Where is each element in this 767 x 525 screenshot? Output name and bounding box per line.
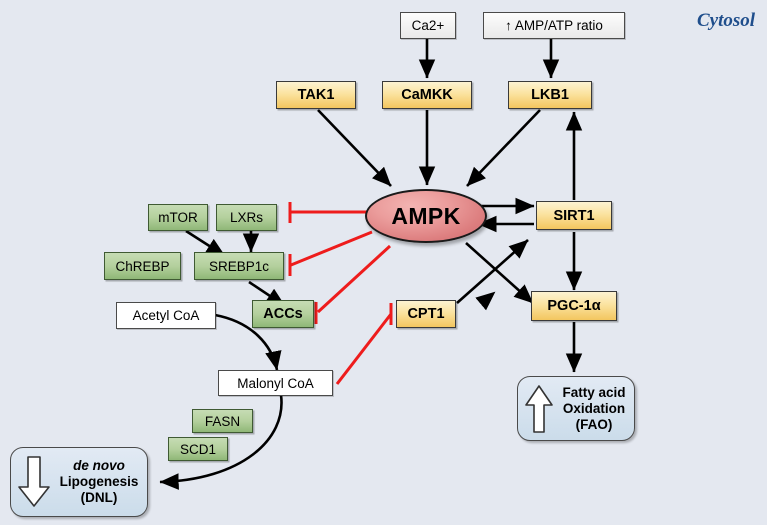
edge-ampk-red-branch: [352, 244, 404, 300]
fao-line2: Oxidation: [563, 401, 625, 416]
node-malonyl-coa[interactable]: Malonyl CoA: [218, 370, 333, 396]
edge-cpt1-sirt1: [457, 240, 528, 303]
edge-cpt1-up-stub: [470, 292, 495, 313]
dnl-line3: (DNL): [81, 490, 118, 505]
node-amp-atp-ratio[interactable]: ↑ AMP/ATP ratio: [483, 12, 625, 39]
outcome-dnl[interactable]: de novo Lipogenesis (DNL): [10, 447, 148, 517]
up-arrow-icon: [524, 384, 554, 434]
node-cpt1[interactable]: CPT1: [396, 300, 456, 328]
node-srebp1c[interactable]: SREBP1c: [194, 252, 284, 280]
node-scd1[interactable]: SCD1: [168, 437, 228, 461]
node-lkb1[interactable]: LKB1: [508, 81, 592, 109]
node-ca2[interactable]: Ca2+: [400, 12, 456, 39]
down-arrow-icon: [17, 455, 51, 509]
edge-ampk-inhibits-accs: [318, 246, 390, 312]
fao-line1: Fatty acid: [562, 385, 625, 400]
cytosol-label: Cytosol: [697, 10, 755, 32]
dnl-line1: de novo: [73, 458, 125, 473]
node-ampk[interactable]: AMPK: [365, 189, 487, 243]
node-tak1[interactable]: TAK1: [276, 81, 356, 109]
edge-ampk-pgc1a: [466, 243, 533, 303]
node-lxrs[interactable]: LXRs: [216, 204, 277, 231]
node-pgc1a[interactable]: PGC-1α: [531, 291, 617, 321]
node-chrebp[interactable]: ChREBP: [104, 252, 181, 280]
node-fasn[interactable]: FASN: [192, 409, 253, 433]
outcome-dnl-text: de novo Lipogenesis (DNL): [51, 458, 147, 506]
edge-tak1-ampk: [318, 110, 391, 186]
node-acetyl-coa[interactable]: Acetyl CoA: [116, 302, 216, 329]
pathway-diagram: Cytosol Ca2+ ↑ AMP/ATP ratio TAK1 CaMKK …: [0, 0, 767, 525]
edge-lkb1-ampk: [467, 110, 540, 186]
outcome-fao-text: Fatty acid Oxidation (FAO): [554, 385, 634, 433]
node-mtor[interactable]: mTOR: [148, 204, 208, 231]
outcome-fao[interactable]: Fatty acid Oxidation (FAO): [517, 376, 635, 441]
node-sirt1[interactable]: SIRT1: [536, 201, 612, 230]
edge-malonylcoa-inhibits-cpt1: [337, 314, 391, 384]
node-camkk[interactable]: CaMKK: [382, 81, 472, 109]
fao-line3: (FAO): [576, 417, 613, 432]
dnl-line2: Lipogenesis: [60, 474, 139, 489]
node-accs[interactable]: ACCs: [252, 300, 314, 328]
edge-ampk-inhibits-srebp1c: [291, 232, 372, 265]
